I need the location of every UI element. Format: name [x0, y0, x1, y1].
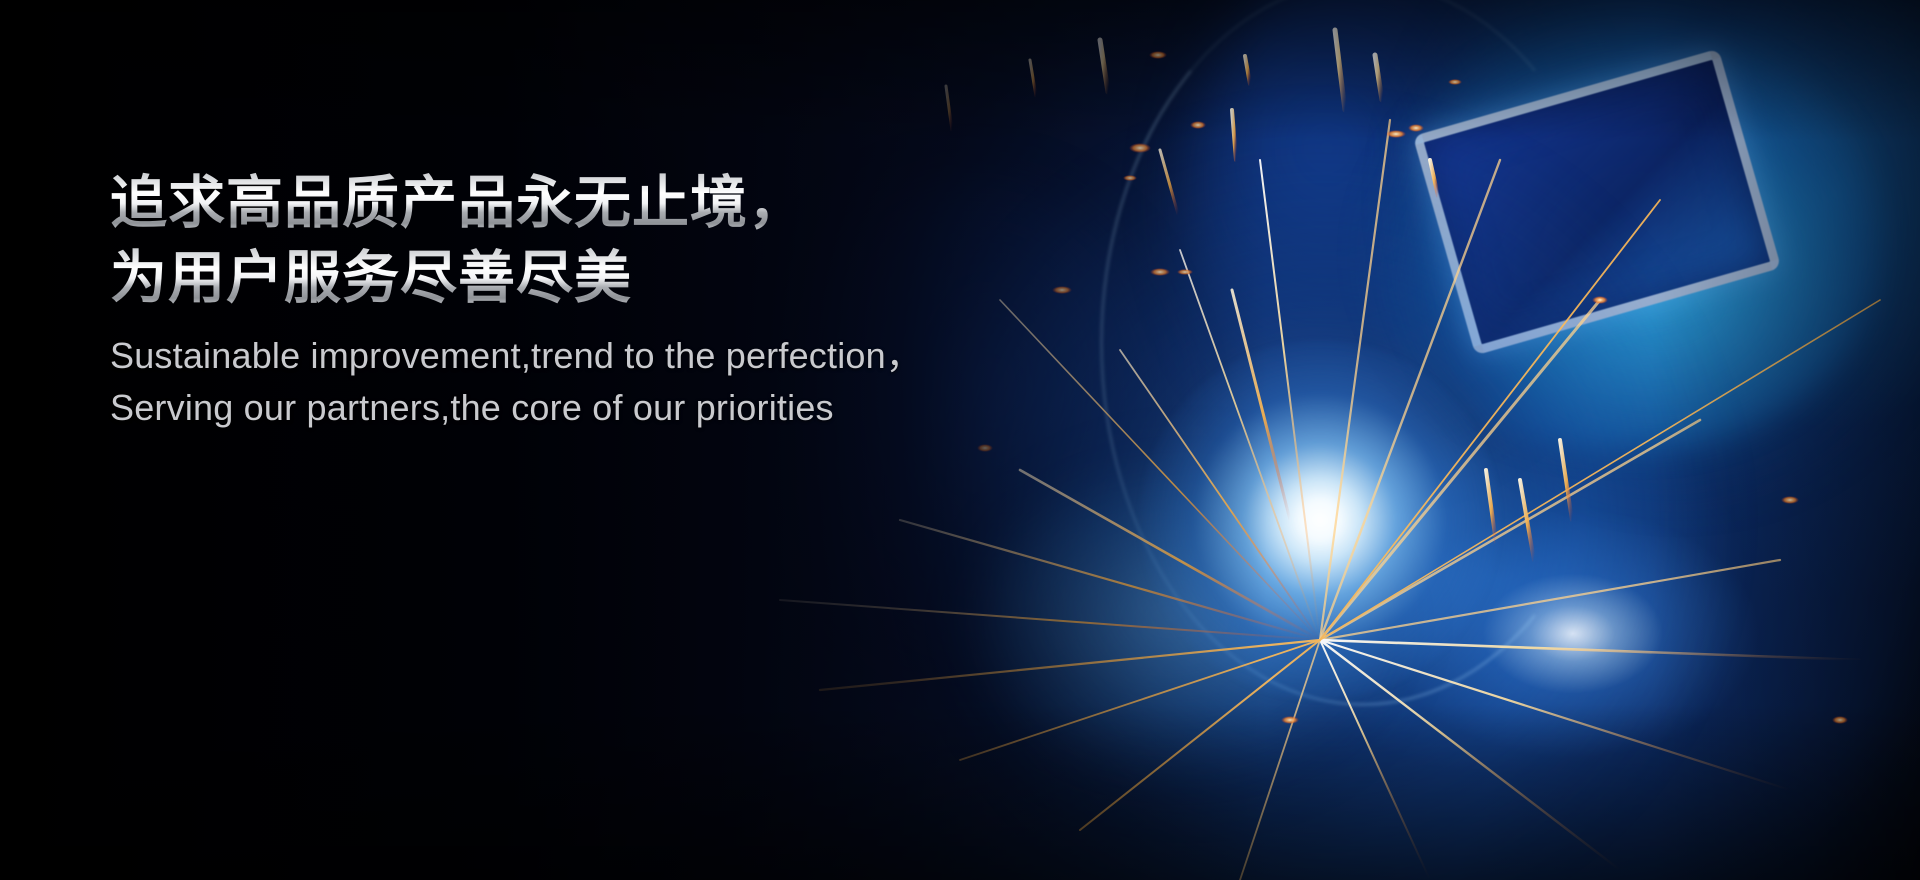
subtitle-english-block: Sustainable improvement,trend to the per…: [110, 330, 1110, 434]
background-photo: [0, 0, 1920, 880]
subtitle-english-line2: Serving our partners,the core of our pri…: [110, 382, 1110, 434]
welding-hero-banner: 追求高品质产品永无止境， 为用户服务尽善尽美 Sustainable impro…: [0, 0, 1920, 880]
headline-chinese-line2: 为用户服务尽善尽美: [110, 241, 1110, 316]
slogan-copy-block: 追求高品质产品永无止境， 为用户服务尽善尽美 Sustainable impro…: [110, 166, 1110, 434]
left-dark-gradient-overlay: [0, 0, 1920, 880]
headline-chinese-line1: 追求高品质产品永无止境，: [110, 166, 1110, 241]
subtitle-english-line1: Sustainable improvement,trend to the per…: [110, 330, 1110, 382]
